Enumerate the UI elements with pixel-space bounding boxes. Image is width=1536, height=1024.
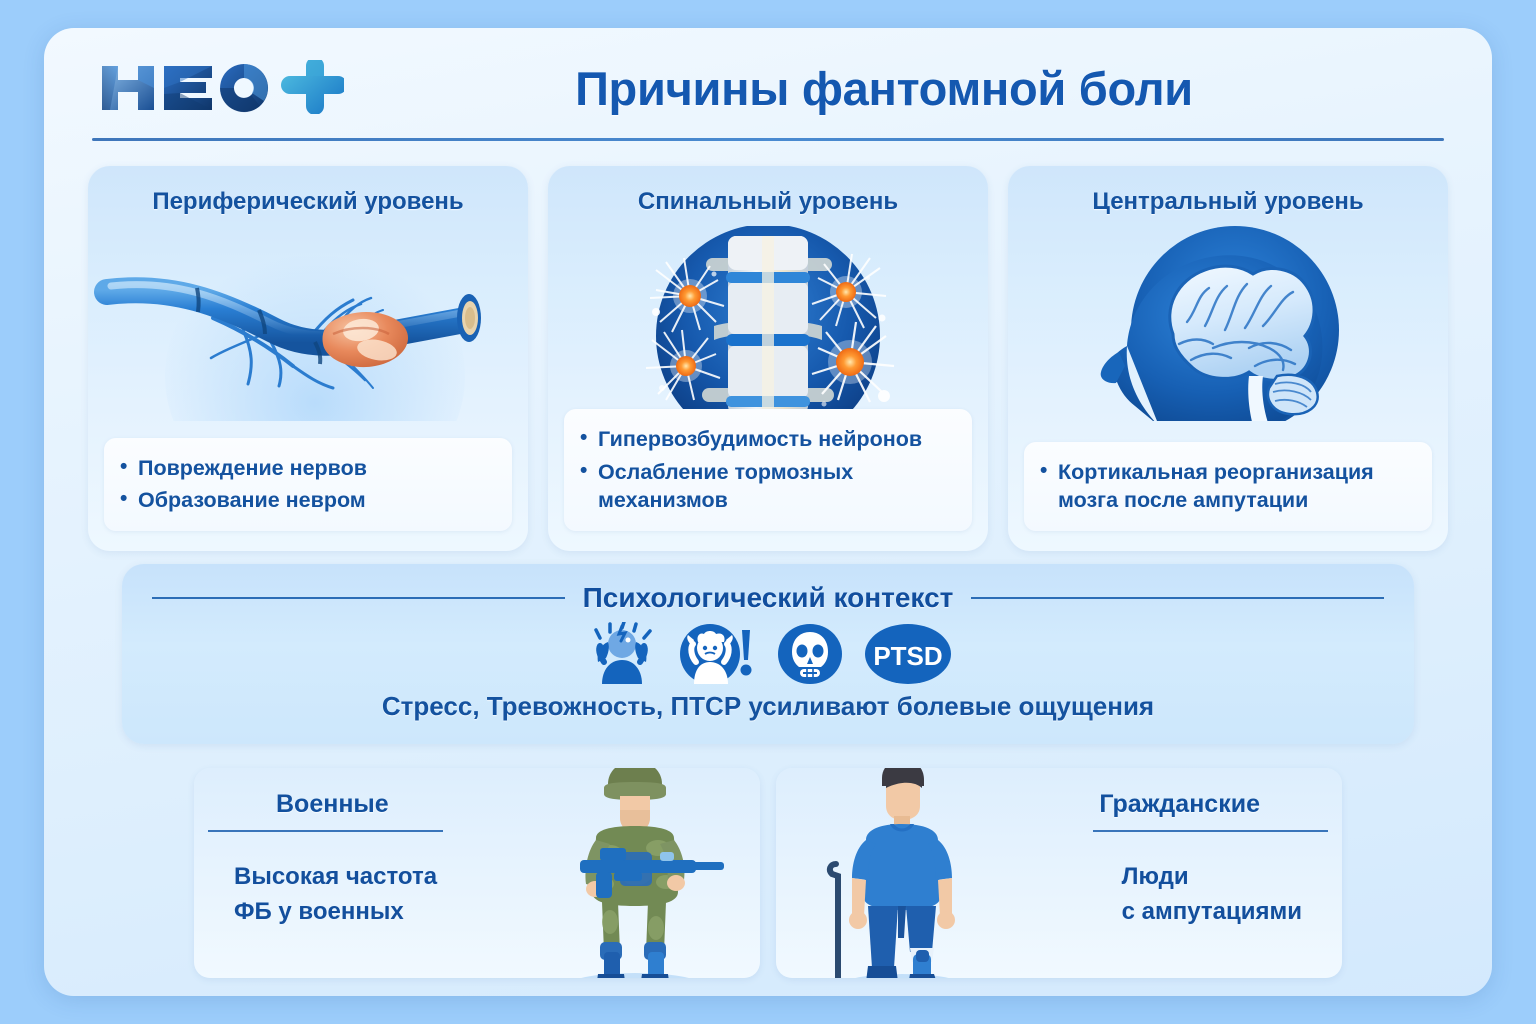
psychological-caption: Стресс, Тревожность, ПТСР усиливают боле… [122,691,1414,722]
ptsd-label: PTSD [873,641,942,671]
card-bullets-spinal: Гипервозбудимость нейронов Ослабление то… [564,409,972,531]
ptsd-badge-icon: PTSD [864,622,952,686]
card-peripheral-level[interactable]: Периферический уровень [88,166,528,551]
card-spinal-level[interactable]: Спинальный уровень [548,166,988,551]
stressed-person-icon [584,622,660,686]
group-civilian[interactable]: Гражданские Люди с ампутациями [776,768,1342,978]
group-divider-military [208,830,443,832]
group-label-civilian: Гражданские [1099,790,1260,819]
psychological-header: Психологический контекст [122,582,1414,614]
card-title-central: Центральный уровень [1008,188,1448,216]
poster-header: Причины фантомной боли [44,28,1492,132]
group-text-military: Высокая частота ФБ у военных [234,860,437,930]
group-divider-civilian [1093,830,1328,832]
psychological-icons: PTSD [122,622,1414,686]
levels-row: Периферический уровень [88,166,1448,551]
divider-left [152,597,565,599]
spinal-cord-neurons-illustration [548,226,988,421]
card-bullets-central: Кортикальная реорганизация мозга после а… [1024,442,1432,531]
divider-right [971,597,1384,599]
card-central-level[interactable]: Центральный уровень [1008,166,1448,551]
population-groups-row: Военные Высокая частота ФБ у военных [194,768,1342,978]
card-bullets-peripheral: Повреждение нервов Образование невром [104,438,512,531]
list-item: Повреждение нервов [118,454,494,483]
soldier-with-prosthesis-figure [540,768,730,978]
psychological-title: Психологический контекст [583,582,954,614]
list-item: Образование невром [118,486,494,515]
card-title-peripheral: Периферический уровень [88,188,528,216]
page-title: Причины фантомной боли [374,58,1394,120]
skull-icon [776,622,844,686]
civilian-with-cane-prosthesis-figure [806,768,986,978]
group-text-civilian: Люди с ампутациями [1122,860,1302,930]
list-item: Ослабление тормозных механизмов [578,458,954,515]
anxious-person-exclamation-icon [680,622,756,686]
psychological-context-panel: Психологический контекст [122,564,1414,744]
infographic-poster: Причины фантомной боли Периферический ур… [44,28,1492,996]
group-military[interactable]: Военные Высокая частота ФБ у военных [194,768,760,978]
neo-plus-logo [94,60,344,114]
brain-head-illustration [1008,226,1448,421]
list-item: Гипервозбудимость нейронов [578,425,954,454]
damaged-nerve-illustration [88,226,528,421]
header-divider [92,138,1444,141]
list-item: Кортикальная реорганизация мозга после а… [1038,458,1414,515]
card-title-spinal: Спинальный уровень [548,188,988,216]
group-label-military: Военные [276,790,389,819]
